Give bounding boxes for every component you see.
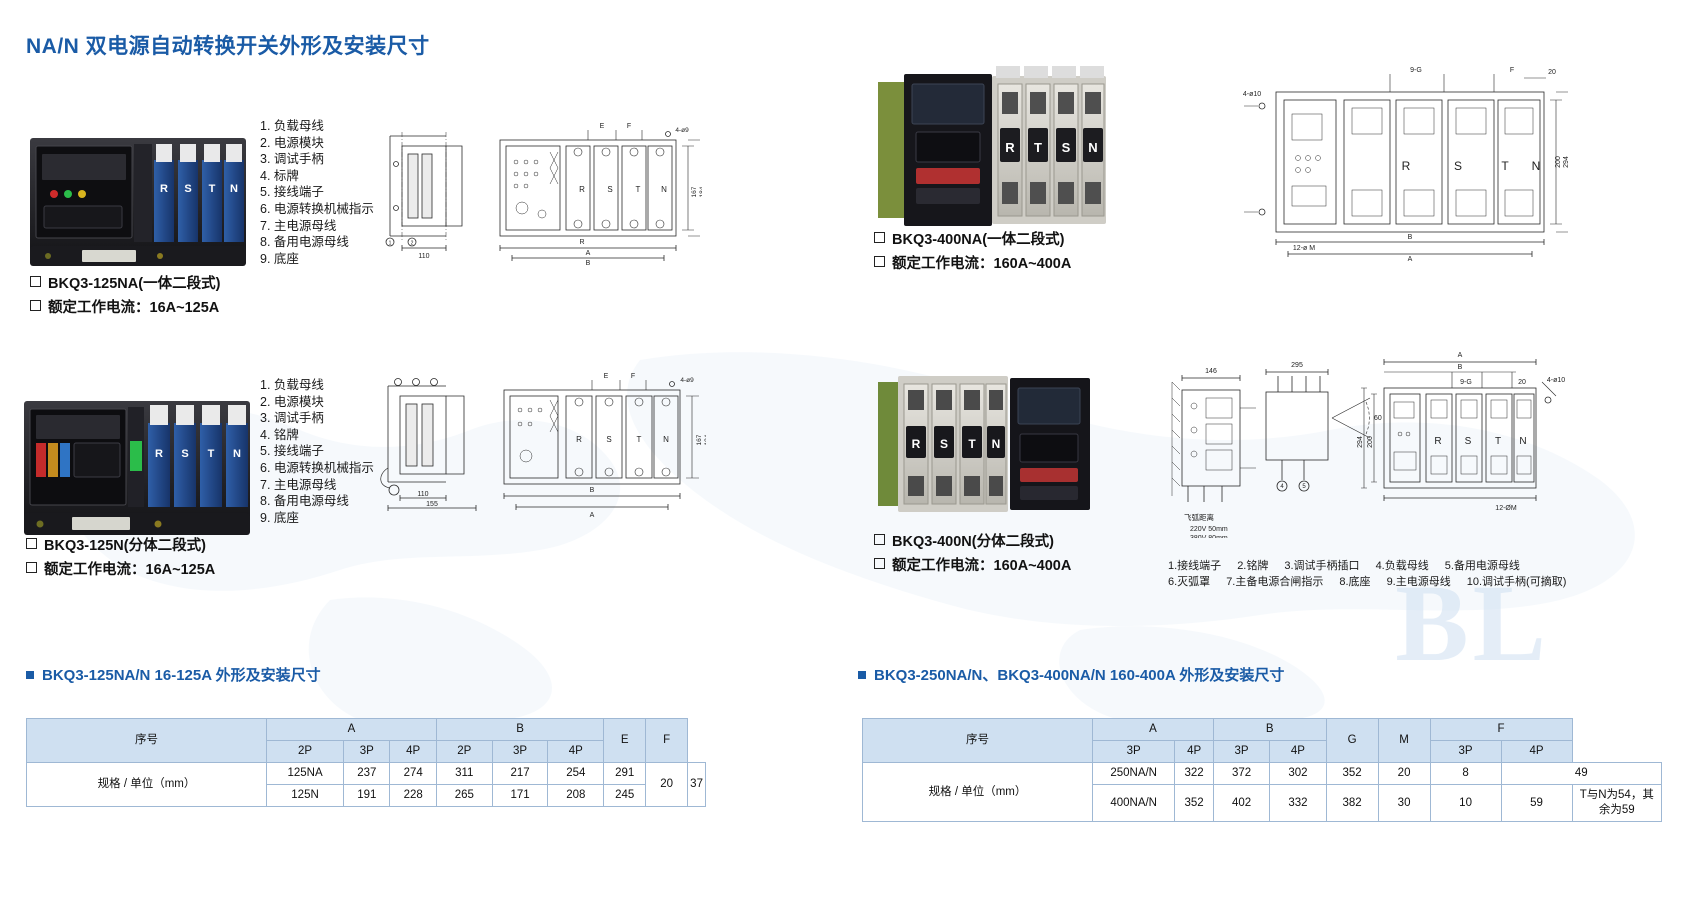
svg-text:B: B: [1408, 234, 1413, 241]
unit-label: 规格 / 单位（mm）: [863, 763, 1093, 822]
svg-text:184: 184: [704, 434, 706, 445]
value-cell-F3P: 59: [1501, 785, 1572, 822]
svg-text:N: N: [663, 435, 669, 444]
svg-text:2: 2: [411, 241, 414, 247]
part-item: 8. 备用电源母线: [260, 493, 374, 510]
value-cell-F: 37: [688, 763, 706, 807]
spec-table-250-400: 序号 A B G M F 3P 4P 3P 4P 3P 4P 规格 / 单位（m…: [862, 718, 1662, 822]
square-bullet-icon: [26, 671, 34, 679]
unit-label: 规格 / 单位（mm）: [27, 763, 267, 807]
model-cell: 250NA/N: [1093, 763, 1175, 785]
caption-400na: BKQ3-400NA(一体二段式) 额定工作电流：160A~400A: [874, 228, 1071, 276]
model-name: BKQ3-125NA(一体二段式): [48, 276, 220, 292]
value-cell: 245: [604, 785, 646, 807]
value-cell: 382: [1326, 785, 1378, 822]
svg-text:S: S: [607, 185, 612, 194]
value-cell: 352: [1175, 785, 1214, 822]
drawing-125n-front-view: R S T N B A E F 4-ø9 167 184: [496, 370, 706, 518]
svg-text:S: S: [606, 435, 611, 444]
svg-text:T: T: [637, 435, 642, 444]
part-item: 1. 负载母线: [260, 377, 374, 394]
checkbox-icon: [26, 562, 37, 573]
col-serial: 序号: [27, 719, 267, 763]
svg-text:T: T: [1501, 159, 1509, 173]
svg-text:A: A: [1458, 352, 1463, 359]
section-heading-right: BKQ3-250NA/N、BKQ3-400NA/N 160-400A 外形及安装…: [858, 664, 1284, 685]
drawing-125na-side-view: 110 1 2: [376, 124, 496, 264]
svg-text:N: N: [992, 437, 1001, 451]
value-cell: 402: [1213, 785, 1269, 822]
current-rating: 额定工作电流：160A~400A: [892, 256, 1071, 272]
svg-text:294: 294: [1357, 436, 1364, 448]
part-item: 5. 接线端子: [260, 184, 374, 201]
col-F: F: [646, 719, 688, 763]
svg-text:飞弧距离: 飞弧距离: [1184, 512, 1214, 522]
table-header-row: 序号 A B E F: [27, 719, 706, 741]
value-cell: 322: [1175, 763, 1214, 785]
svg-text:4-ø9: 4-ø9: [680, 377, 694, 384]
part-item: 5. 接线端子: [260, 443, 374, 460]
drawing-125n-side-view: 110 155: [372, 372, 502, 517]
value-cell: 352: [1326, 763, 1378, 785]
table-row: 规格 / 单位（mm） 250NA/N 322 372 302 352 20 8…: [863, 763, 1662, 785]
svg-text:184: 184: [699, 186, 702, 197]
svg-text:B: B: [586, 260, 591, 267]
svg-text:E: E: [604, 373, 609, 380]
svg-text:4-ø10: 4-ø10: [1243, 91, 1261, 98]
product-photo-400na: R T S N: [872, 62, 1112, 237]
part-item: 7.主备电源合闸指示: [1226, 574, 1323, 590]
part-item: 7. 主电源母线: [260, 218, 374, 235]
svg-text:1: 1: [389, 241, 392, 247]
part-item: 8. 备用电源母线: [260, 234, 374, 251]
table-header-row: 序号 A B G M F: [863, 719, 1662, 741]
svg-text:A: A: [590, 512, 595, 518]
current-rating: 额定工作电流：16A~125A: [48, 300, 219, 316]
caption-125n: BKQ3-125N(分体二段式) 额定工作电流：16A~125A: [26, 534, 215, 582]
drawing-125na-front-view: R S R T N A B E F 4-ø9 167 184: [492, 122, 702, 267]
svg-text:A: A: [1408, 256, 1413, 262]
value-cell: 332: [1270, 785, 1326, 822]
value-cell-F: 49: [1501, 763, 1661, 785]
col-pole: 4P: [390, 741, 436, 763]
col-pole: 3P: [1430, 741, 1501, 763]
value-cell: 372: [1213, 763, 1269, 785]
value-cell-G: 20: [1378, 763, 1430, 785]
part-item: 3. 调试手柄: [260, 151, 374, 168]
part-item: 9. 底座: [260, 251, 374, 268]
col-F: F: [1430, 719, 1572, 741]
svg-text:S: S: [184, 183, 191, 195]
value-cell-E: 20: [646, 763, 688, 807]
svg-text:380V 80mm: 380V 80mm: [1190, 535, 1228, 538]
svg-text:R: R: [576, 435, 582, 444]
svg-text:F: F: [627, 123, 631, 130]
part-item: 7. 主电源母线: [260, 477, 374, 494]
svg-text:B: B: [590, 487, 595, 494]
col-M: M: [1378, 719, 1430, 763]
svg-text:N: N: [1532, 159, 1541, 173]
svg-text:R: R: [160, 183, 168, 195]
part-item: 9. 底座: [260, 510, 374, 527]
value-cell: 217: [492, 763, 548, 785]
svg-text:167: 167: [691, 186, 698, 197]
col-pole: 2P: [267, 741, 344, 763]
value-cell: 228: [390, 785, 436, 807]
svg-text:T: T: [1495, 436, 1501, 447]
svg-text:R: R: [579, 239, 584, 246]
value-cell: 237: [344, 763, 390, 785]
col-A: A: [267, 719, 437, 741]
caption-125na: BKQ3-125NA(一体二段式) 额定工作电流：16A~125A: [30, 272, 220, 320]
part-item: 4.负载母线: [1376, 558, 1429, 574]
value-cell: 208: [548, 785, 604, 807]
svg-text:110: 110: [417, 491, 428, 498]
parts-list-125n: 1. 负载母线 2. 电源模块 3. 调试手柄 4. 铭牌 5. 接线端子 6.…: [260, 377, 374, 526]
value-cell: 311: [436, 763, 492, 785]
square-bullet-icon: [858, 671, 866, 679]
part-item: 4. 标牌: [260, 168, 374, 185]
part-item: 6.灭弧罩: [1168, 574, 1210, 590]
svg-text:167: 167: [696, 434, 703, 445]
caption-400n: BKQ3-400N(分体二段式) 额定工作电流：160A~400A: [874, 530, 1071, 578]
svg-text:155: 155: [426, 501, 438, 508]
svg-text:5: 5: [1302, 484, 1306, 490]
svg-text:S: S: [1465, 436, 1472, 447]
col-pole: 3P: [344, 741, 390, 763]
svg-text:F: F: [1510, 67, 1514, 74]
svg-text:220V 50mm: 220V 50mm: [1190, 526, 1228, 533]
svg-text:S: S: [1454, 159, 1462, 173]
part-item: 10.调试手柄(可摘取): [1467, 574, 1567, 590]
product-photo-125na: R S T N: [28, 120, 248, 280]
catalog-page: NA/N 双电源自动转换开关外形及安装尺寸: [0, 0, 1700, 916]
svg-text:20: 20: [1548, 69, 1556, 76]
svg-text:T: T: [208, 448, 215, 460]
svg-text:A: A: [586, 250, 591, 257]
value-cell: 265: [436, 785, 492, 807]
checkbox-icon: [874, 558, 885, 569]
svg-text:N: N: [230, 183, 238, 195]
svg-text:9-G: 9-G: [1460, 379, 1472, 386]
value-cell-M: 10: [1430, 785, 1501, 822]
value-cell-F4P: T与N为54，其余为59: [1572, 785, 1661, 822]
checkbox-icon: [874, 534, 885, 545]
svg-text:R: R: [1434, 436, 1441, 447]
col-pole: 4P: [1270, 741, 1326, 763]
part-item: 1. 负载母线: [260, 118, 374, 135]
svg-text:N: N: [661, 185, 667, 194]
part-item: 2. 电源模块: [260, 394, 374, 411]
col-pole: 3P: [492, 741, 548, 763]
model-name: BKQ3-125N(分体二段式): [44, 538, 206, 554]
part-item: 9.主电源母线: [1387, 574, 1451, 590]
checkbox-icon: [874, 232, 885, 243]
col-pole: 4P: [1175, 741, 1214, 763]
svg-text:S: S: [940, 437, 948, 451]
col-B: B: [1213, 719, 1326, 741]
svg-text:S: S: [1062, 140, 1071, 155]
spec-table-125: 序号 A B E F 2P 3P 4P 2P 3P 4P 规格 / 单位（mm）…: [26, 718, 706, 807]
svg-text:T: T: [209, 183, 216, 195]
svg-text:R: R: [155, 448, 163, 460]
part-item: 3.调试手柄插口: [1284, 558, 1359, 574]
svg-text:4-ø9: 4-ø9: [675, 127, 689, 134]
value-cell-M: 8: [1430, 763, 1501, 785]
page-title: NA/N 双电源自动转换开关外形及安装尺寸: [26, 30, 430, 60]
model-cell: 125N: [267, 785, 344, 807]
checkbox-icon: [874, 256, 885, 267]
svg-text:295: 295: [1291, 362, 1303, 369]
current-rating: 额定工作电流：16A~125A: [44, 562, 215, 578]
svg-text:R: R: [1005, 140, 1015, 155]
part-item: 6. 电源转换机械指示: [260, 460, 374, 477]
section-heading-left: BKQ3-125NA/N 16-125A 外形及安装尺寸: [26, 664, 321, 685]
parts-list-400n: 1.接线端子 2.铭牌 3.调试手柄插口 4.负载母线 5.备用电源母线 6.灭…: [1168, 558, 1566, 590]
svg-text:200: 200: [1367, 436, 1374, 448]
part-item: 2. 电源模块: [260, 135, 374, 152]
value-cell: 191: [344, 785, 390, 807]
value-cell: 274: [390, 763, 436, 785]
svg-text:R: R: [579, 185, 585, 194]
svg-text:4: 4: [1280, 484, 1284, 490]
svg-text:F: F: [631, 373, 635, 380]
value-cell: 291: [604, 763, 646, 785]
model-cell: 400NA/N: [1093, 785, 1175, 822]
svg-text:4-ø10: 4-ø10: [1547, 377, 1565, 384]
svg-text:S: S: [181, 448, 188, 460]
col-E: E: [604, 719, 646, 763]
value-cell: 254: [548, 763, 604, 785]
col-pole: 3P: [1213, 741, 1269, 763]
svg-text:R: R: [1402, 159, 1411, 173]
svg-text:110: 110: [418, 253, 429, 260]
checkbox-icon: [30, 300, 41, 311]
parts-list-125na: 1. 负载母线 2. 电源模块 3. 调试手柄 4. 标牌 5. 接线端子 6.…: [260, 118, 374, 267]
drawing-400na-front-view: R S T N B A 9-G F 20 4-ø10 200 294 12-ø …: [1240, 62, 1570, 262]
value-cell: 171: [492, 785, 548, 807]
model-name: BKQ3-400NA(一体二段式): [892, 232, 1064, 248]
svg-text:T: T: [968, 437, 976, 451]
part-item: 6. 电源转换机械指示: [260, 201, 374, 218]
model-cell: 125NA: [267, 763, 344, 785]
value-cell-G: 30: [1378, 785, 1430, 822]
col-G: G: [1326, 719, 1378, 763]
part-item: 8.底座: [1339, 574, 1370, 590]
checkbox-icon: [30, 276, 41, 287]
svg-text:N: N: [1519, 436, 1526, 447]
svg-text:E: E: [600, 123, 605, 130]
drawing-400n-front-view: R S T N A B 9-G 20 4-ø10 294 200 12-ØM: [1356, 352, 1568, 517]
col-B: B: [436, 719, 603, 741]
svg-text:T: T: [636, 185, 641, 194]
table-row: 规格 / 单位（mm） 125NA 237 274 311 217 254 29…: [27, 763, 706, 785]
svg-text:B: B: [1458, 364, 1463, 371]
col-pole: 4P: [1501, 741, 1572, 763]
col-pole: 4P: [548, 741, 604, 763]
part-item: 1.接线端子: [1168, 558, 1221, 574]
part-item: 5.备用电源母线: [1445, 558, 1520, 574]
current-rating: 额定工作电流：160A~400A: [892, 558, 1071, 574]
svg-text:N: N: [233, 448, 241, 460]
svg-text:N: N: [1088, 140, 1097, 155]
svg-text:12-ø M: 12-ø M: [1293, 245, 1315, 252]
svg-text:294: 294: [1563, 156, 1570, 168]
value-cell: 302: [1270, 763, 1326, 785]
col-A: A: [1093, 719, 1214, 741]
svg-text:R: R: [912, 437, 921, 451]
model-name: BKQ3-400N(分体二段式): [892, 534, 1054, 550]
svg-text:20: 20: [1518, 379, 1526, 386]
checkbox-icon: [26, 538, 37, 549]
svg-text:T: T: [1034, 140, 1042, 155]
part-item: 4. 铭牌: [260, 427, 374, 444]
col-serial: 序号: [863, 719, 1093, 763]
product-photo-125n: R S T N: [22, 385, 252, 550]
product-photo-400n: R S T N: [874, 368, 1094, 523]
svg-text:9-G: 9-G: [1410, 67, 1422, 74]
part-item: 2.铭牌: [1237, 558, 1268, 574]
part-item: 3. 调试手柄: [260, 410, 374, 427]
col-pole: 2P: [436, 741, 492, 763]
col-pole: 3P: [1093, 741, 1175, 763]
svg-text:12-ØM: 12-ØM: [1495, 505, 1517, 512]
svg-text:146: 146: [1205, 368, 1217, 375]
svg-text:200: 200: [1555, 156, 1562, 168]
